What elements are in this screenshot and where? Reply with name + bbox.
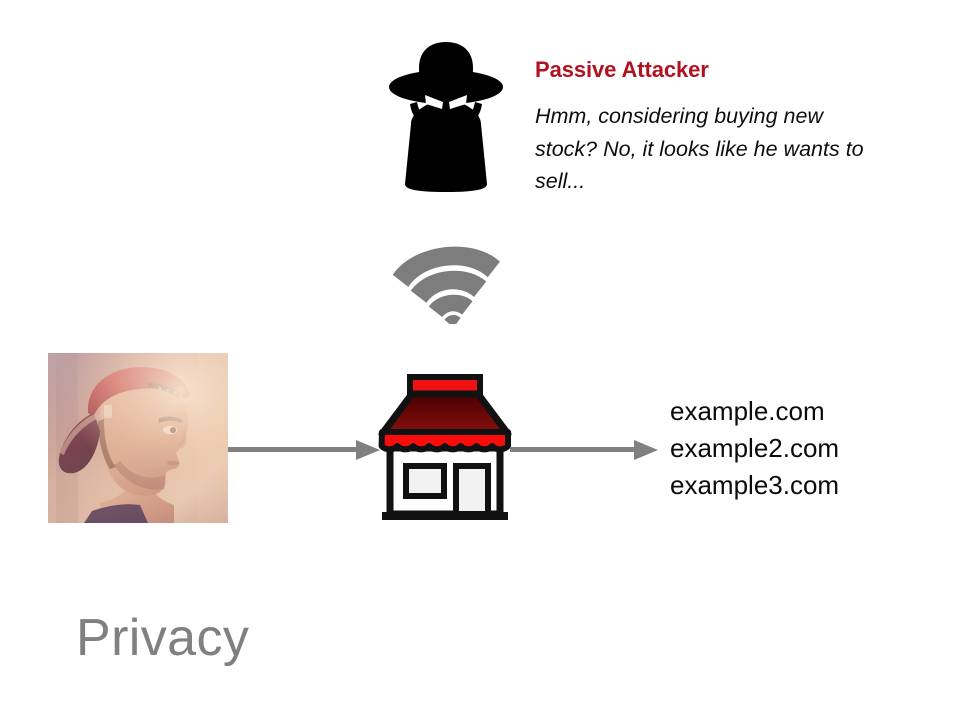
person-photo <box>48 353 228 523</box>
page-title: Privacy <box>76 608 249 668</box>
domain-item-2: example2.com <box>670 430 839 467</box>
domain-item-3: example3.com <box>670 467 839 504</box>
slide-canvas: Passive Attacker Hmm, considering buying… <box>0 0 960 720</box>
attacker-label: Passive Attacker <box>535 57 709 83</box>
user-to-store-arrow <box>228 437 380 463</box>
domain-list: example.com example2.com example3.com <box>670 393 839 504</box>
attacker-quote: Hmm, considering buying new stock? No, i… <box>535 100 887 198</box>
spy-silhouette-icon <box>381 38 511 196</box>
domain-item-1: example.com <box>670 393 839 430</box>
wifi-signal-icon <box>392 238 508 324</box>
store-to-domains-arrow <box>510 437 658 463</box>
storefront-icon <box>372 370 518 528</box>
